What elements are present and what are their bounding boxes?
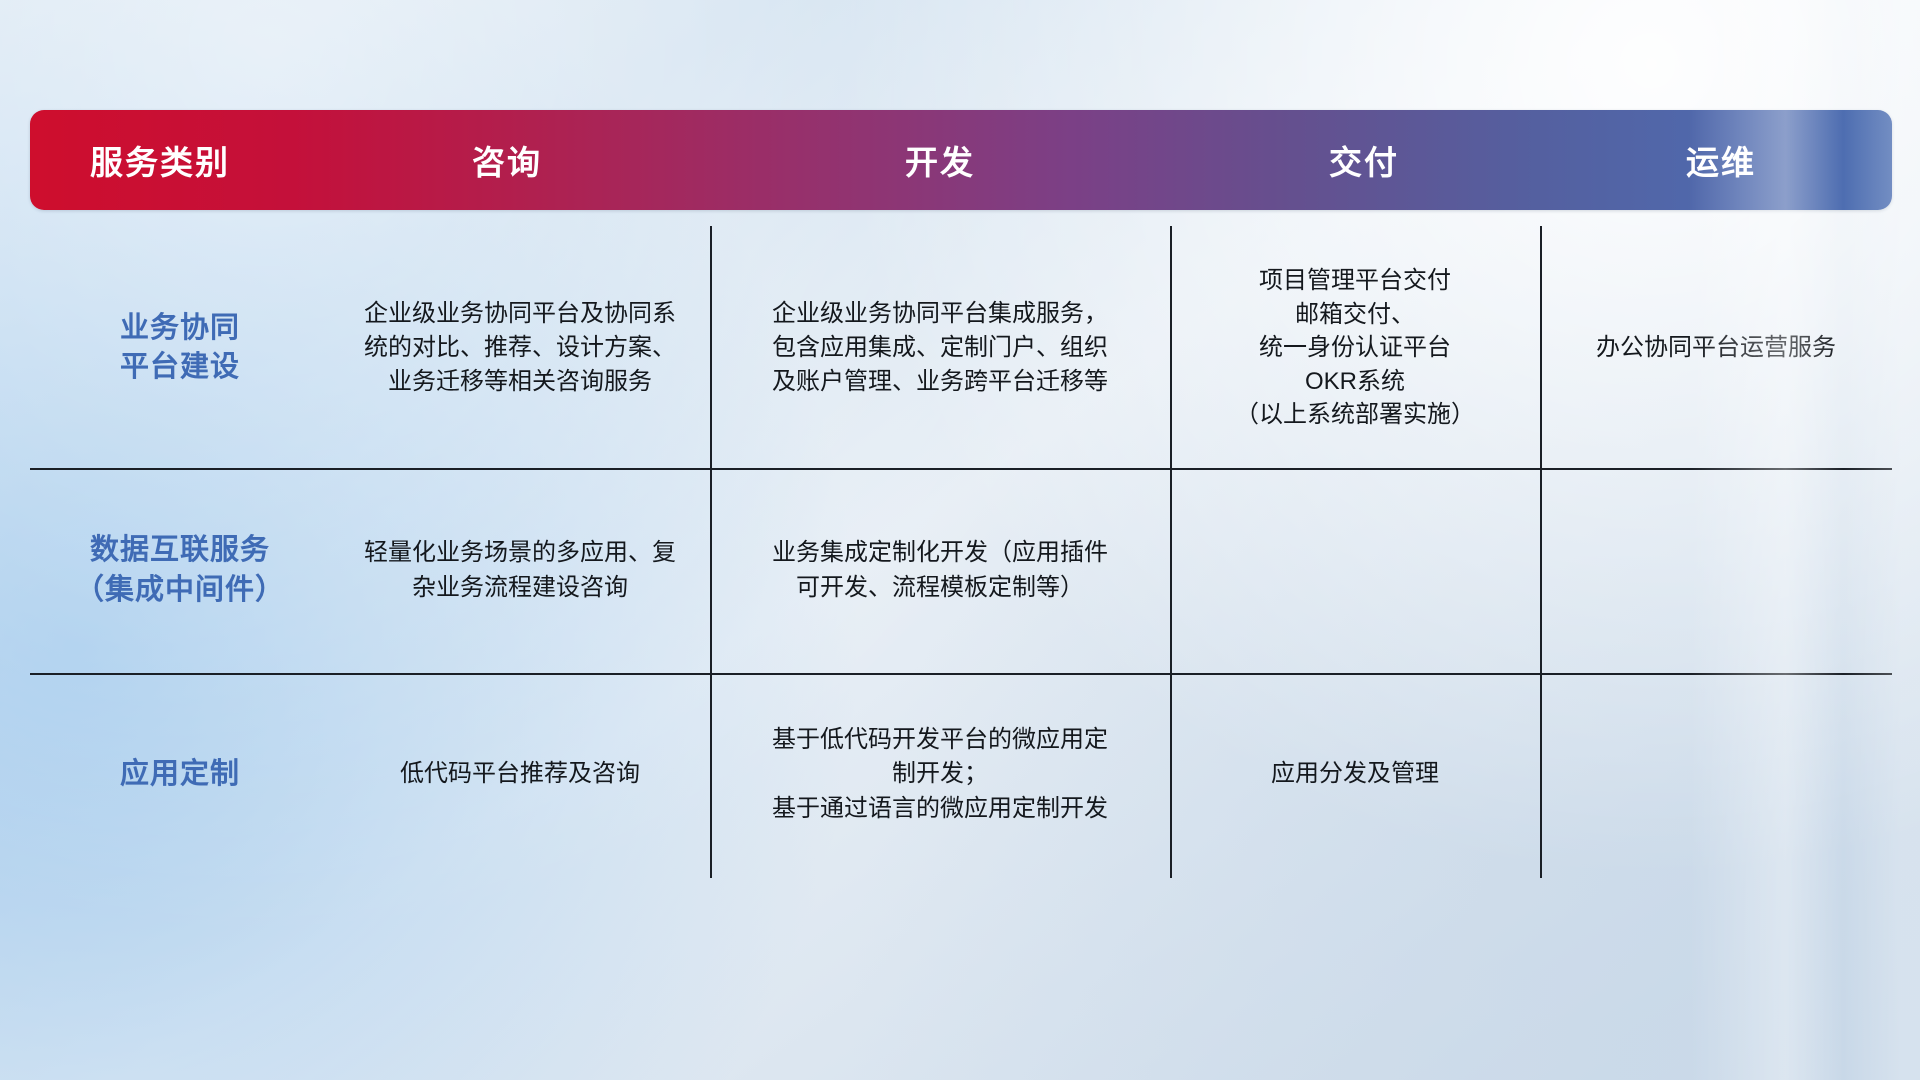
table-row: 数据互联服务 （集成中间件） 轻量化业务场景的多应用、复 杂业务流程建设咨询 业… [30, 468, 1892, 673]
row-category-cell: 应用定制 [30, 673, 330, 876]
column-header-operations: 运维 [1540, 136, 1892, 184]
category-label: 数据互联服务 （集成中间件） [75, 531, 285, 609]
cell-text: 项目管理平台交付 邮箱交付、 统一身份认证平台 OKR系统 （以上系统部署实施） [1235, 264, 1475, 432]
cell-text: 轻量化业务场景的多应用、复 杂业务流程建设咨询 [364, 536, 676, 604]
cell-text: 业务集成定制化开发（应用插件 可开发、流程模板定制等） [772, 536, 1108, 604]
cell-operations [1540, 468, 1892, 673]
cell-consulting: 轻量化业务场景的多应用、复 杂业务流程建设咨询 [330, 468, 710, 673]
table-header-row: 服务类别 咨询 开发 交付 运维 [30, 110, 1892, 210]
cell-development: 基于低代码开发平台的微应用定 制开发； 基于通过语言的微应用定制开发 [710, 673, 1170, 876]
service-matrix-table: 服务类别 咨询 开发 交付 运维 业务协同 平台建设 企业级业务协同平台及协同系… [30, 110, 1892, 950]
cell-development: 业务集成定制化开发（应用插件 可开发、流程模板定制等） [710, 468, 1170, 673]
row-category-cell: 业务协同 平台建设 [30, 228, 330, 468]
cell-text: 企业级业务协同平台集成服务， 包含应用集成、定制门户、组织 及账户管理、业务跨平… [772, 297, 1108, 399]
cell-text: 办公协同平台运营服务 [1596, 331, 1836, 365]
cell-development: 企业级业务协同平台集成服务， 包含应用集成、定制门户、组织 及账户管理、业务跨平… [710, 228, 1170, 468]
slide-canvas: 服务类别 咨询 开发 交付 运维 业务协同 平台建设 企业级业务协同平台及协同系… [0, 0, 1920, 1080]
cell-operations: 办公协同平台运营服务 [1540, 228, 1892, 468]
table-row: 应用定制 低代码平台推荐及咨询 基于低代码开发平台的微应用定 制开发； 基于通过… [30, 673, 1892, 876]
category-label: 业务协同 平台建设 [120, 309, 240, 387]
cell-text: 低代码平台推荐及咨询 [400, 757, 640, 791]
row-category-cell: 数据互联服务 （集成中间件） [30, 468, 330, 673]
cell-text: 应用分发及管理 [1271, 757, 1439, 791]
table-row: 业务协同 平台建设 企业级业务协同平台及协同系 统的对比、推荐、设计方案、 业务… [30, 228, 1892, 468]
category-label: 应用定制 [120, 755, 240, 794]
cell-text: 基于低代码开发平台的微应用定 制开发； 基于通过语言的微应用定制开发 [772, 723, 1108, 825]
column-header-category: 服务类别 [30, 136, 330, 184]
column-header-delivery: 交付 [1170, 136, 1540, 184]
cell-text: 企业级业务协同平台及协同系 统的对比、推荐、设计方案、 业务迁移等相关咨询服务 [364, 297, 676, 399]
cell-delivery [1170, 468, 1540, 673]
cell-delivery: 应用分发及管理 [1170, 673, 1540, 876]
table-body: 业务协同 平台建设 企业级业务协同平台及协同系 统的对比、推荐、设计方案、 业务… [30, 228, 1892, 928]
cell-consulting: 低代码平台推荐及咨询 [330, 673, 710, 876]
cell-delivery: 项目管理平台交付 邮箱交付、 统一身份认证平台 OKR系统 （以上系统部署实施） [1170, 228, 1540, 468]
column-header-consulting: 咨询 [330, 136, 710, 184]
cell-operations [1540, 673, 1892, 876]
column-header-development: 开发 [710, 136, 1170, 184]
cell-consulting: 企业级业务协同平台及协同系 统的对比、推荐、设计方案、 业务迁移等相关咨询服务 [330, 228, 710, 468]
